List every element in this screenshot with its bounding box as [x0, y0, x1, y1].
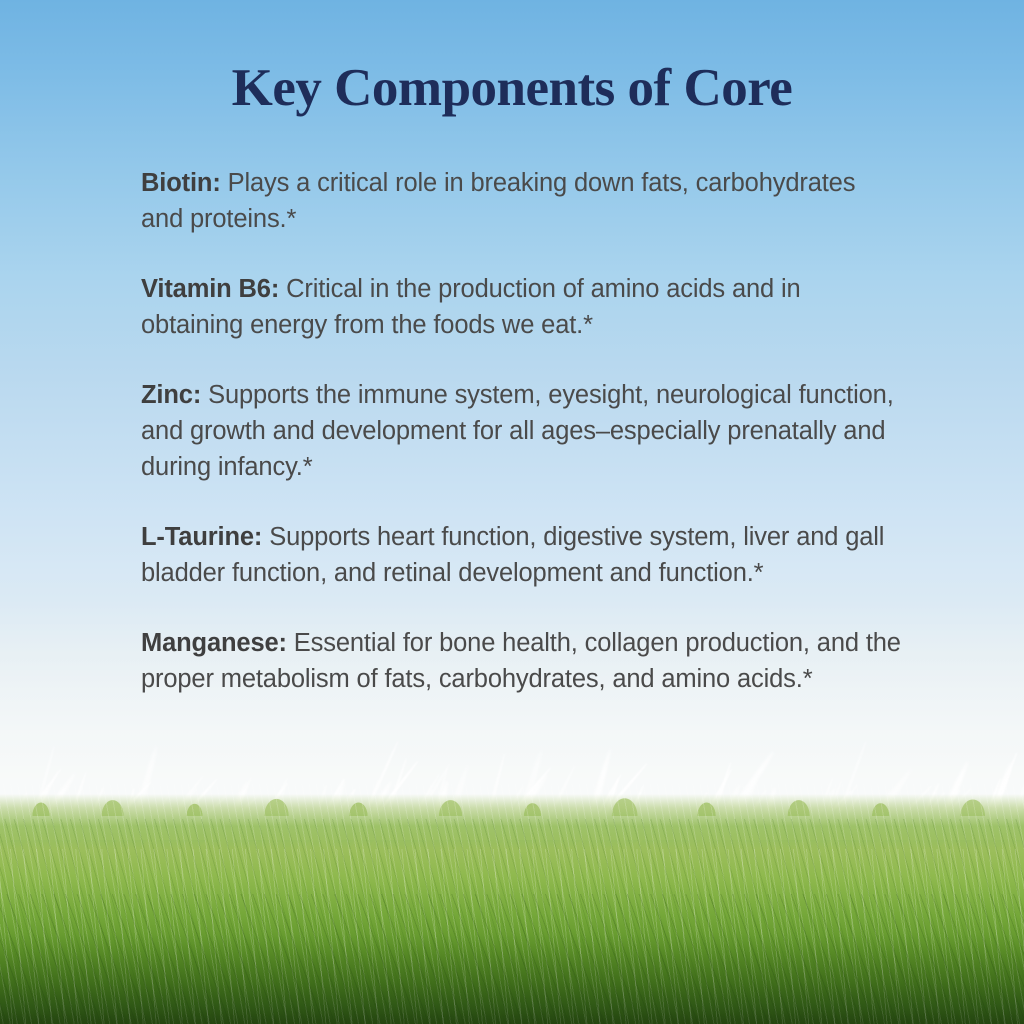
- component-paragraph: Vitamin B6: Critical in the production o…: [141, 271, 901, 343]
- component-paragraph: L-Taurine: Supports heart function, dige…: [141, 519, 901, 591]
- component-description: Plays a critical role in breaking down f…: [141, 169, 855, 233]
- page-title: Key Components of Core: [0, 58, 1024, 119]
- component-description: Supports the immune system, eyesight, ne…: [141, 381, 894, 481]
- component-paragraph: Biotin: Plays a critical role in breakin…: [141, 165, 901, 237]
- component-label: Zinc:: [141, 381, 201, 409]
- components-list: Biotin: Plays a critical role in breakin…: [141, 165, 901, 697]
- component-label: Vitamin B6:: [141, 275, 279, 303]
- content-overlay: Key Components of Core Biotin: Plays a c…: [0, 0, 1024, 1024]
- component-label: L-Taurine:: [141, 523, 262, 551]
- component-label: Biotin:: [141, 169, 221, 197]
- component-paragraph: Manganese: Essential for bone health, co…: [141, 625, 901, 697]
- component-paragraph: Zinc: Supports the immune system, eyesig…: [141, 377, 901, 485]
- poster: Key Components of Core Biotin: Plays a c…: [0, 0, 1024, 1024]
- component-label: Manganese:: [141, 629, 287, 657]
